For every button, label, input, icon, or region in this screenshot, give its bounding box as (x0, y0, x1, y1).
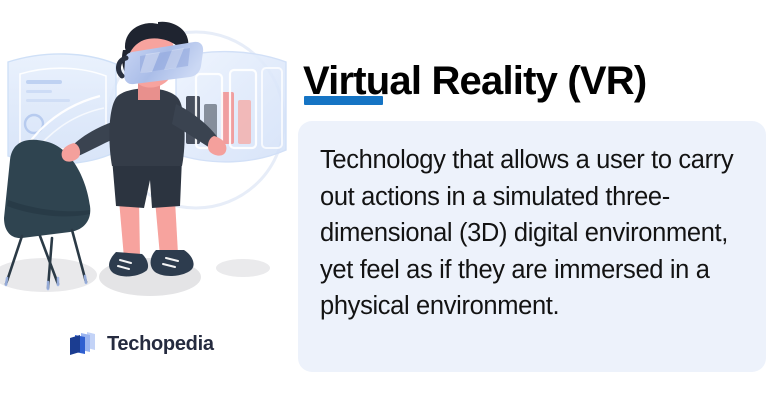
brand-wordmark: Techopedia (107, 334, 214, 354)
content-panel: Virtual Reality (VR) Technology that all… (290, 0, 768, 417)
infographic-card: Techopedia Virtual Reality (VR) Technolo… (0, 0, 768, 417)
definition-card: Technology that allows a user to carry o… (298, 121, 766, 372)
brand-logo: Techopedia (68, 330, 214, 358)
accent-bar (304, 96, 383, 105)
techopedia-stacked-pages-logo-icon (68, 330, 98, 358)
definition-text: Technology that allows a user to carry o… (320, 142, 742, 325)
